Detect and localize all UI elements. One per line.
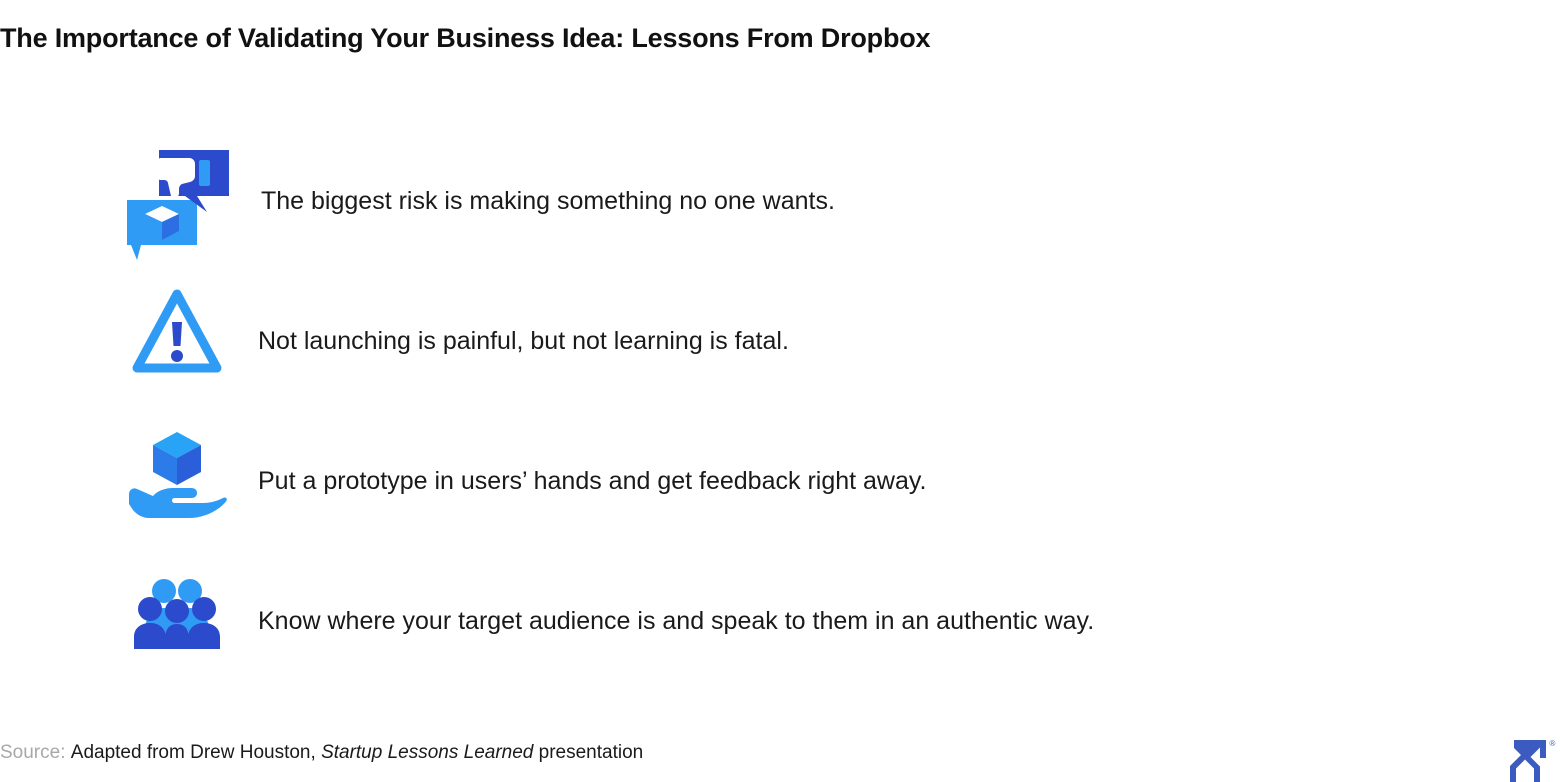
hand-holding-cube-icon: [127, 428, 227, 520]
toptal-logo: ®: [1494, 738, 1556, 782]
list-item-label: Put a prototype in users’ hands and get …: [258, 464, 926, 498]
footer: Source: Adapted from Drew Houston, Start…: [0, 732, 1560, 778]
page-title: The Importance of Validating Your Busine…: [0, 21, 1500, 55]
list-item-label: Know where your target audience is and s…: [258, 604, 1094, 638]
list-item-label: The biggest risk is making something no …: [261, 184, 835, 218]
registered-trademark-symbol: ®: [1550, 739, 1556, 748]
speech-bubbles-thumbs-down-icon: [127, 150, 227, 242]
list-item: Put a prototype in users’ hands and get …: [0, 420, 1560, 560]
list-item-label: Not launching is painful, but not learni…: [258, 324, 789, 358]
source-attribution: Source: Adapted from Drew Houston, Start…: [0, 742, 643, 764]
list-item: The biggest risk is making something no …: [0, 140, 1560, 280]
list-item: Know where your target audience is and s…: [0, 560, 1560, 700]
source-text-before: Adapted from Drew Houston,: [71, 742, 316, 763]
list-item: Not launching is painful, but not learni…: [0, 280, 1560, 420]
source-text-italic: Startup Lessons Learned: [321, 742, 533, 763]
group-of-people-icon: [132, 578, 222, 650]
warning-triangle-icon: [131, 288, 223, 380]
source-text-after: presentation: [539, 742, 644, 763]
source-label: Source:: [0, 742, 65, 763]
bullet-list: The biggest risk is making something no …: [0, 140, 1560, 700]
